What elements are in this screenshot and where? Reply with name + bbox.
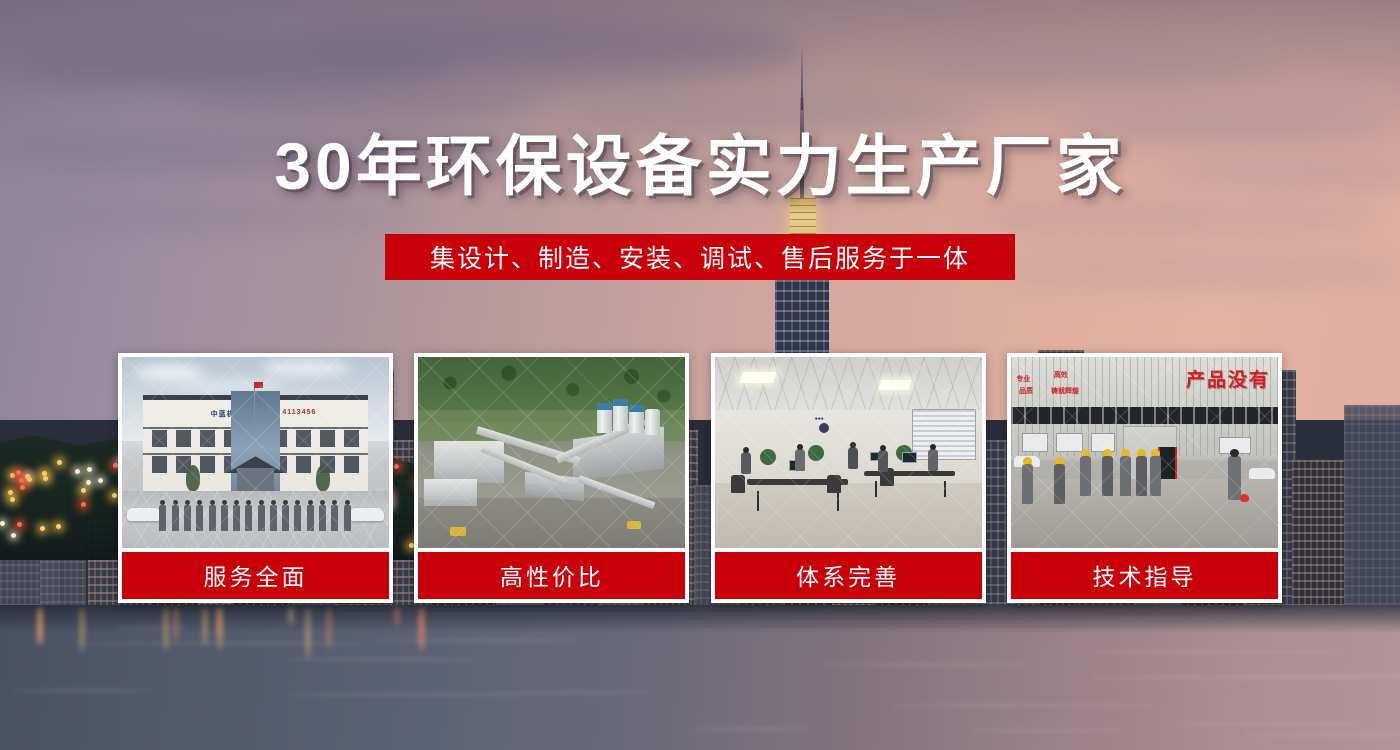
office-interior-photo: ●●● <box>715 357 982 548</box>
office-worker <box>878 450 888 472</box>
office-worker <box>928 449 938 471</box>
feature-card[interactable]: 产品没有 专业 高效 品质 铸就辉煌 <box>1007 353 1282 603</box>
feature-card[interactable]: ●●● <box>711 353 986 603</box>
card-caption: 服务全面 <box>122 552 389 599</box>
flag-pole <box>254 382 255 424</box>
street-light <box>42 471 47 476</box>
staff-member <box>184 505 191 531</box>
light-reflection <box>327 607 331 649</box>
street-light <box>27 477 32 482</box>
light-reflection <box>395 607 399 626</box>
flag <box>254 382 263 388</box>
cloud <box>300 18 800 78</box>
river-water <box>0 605 1400 750</box>
silo <box>645 409 660 435</box>
window-blinds <box>912 409 976 461</box>
parked-car <box>127 508 161 521</box>
feature-card[interactable]: 高性价比 <box>414 353 689 603</box>
street-light <box>16 470 21 475</box>
street-light <box>57 460 62 465</box>
factory-worker <box>1120 456 1131 496</box>
card-photo: 产品没有 专业 高效 品质 铸就辉煌 <box>1011 357 1278 548</box>
plant-aerial-photo <box>418 357 685 548</box>
light-reflection <box>203 607 207 645</box>
street-light <box>0 521 5 526</box>
water-ripple <box>114 626 189 629</box>
photo-cloud <box>175 380 285 392</box>
water-ripple <box>1083 650 1342 653</box>
desk-leg <box>875 481 877 497</box>
factory-worker <box>1150 456 1161 496</box>
desk <box>864 471 955 476</box>
photo-cloud <box>261 361 351 375</box>
street-light <box>8 490 13 495</box>
office-floor <box>715 483 982 548</box>
potted-plant <box>760 449 776 465</box>
potted-plant <box>808 445 824 461</box>
office-worker <box>741 452 751 474</box>
staff-member <box>344 505 351 531</box>
card-caption: 体系完善 <box>715 552 982 599</box>
card-photo: ●●● <box>715 357 982 548</box>
factory-slogan: 高效 <box>1054 370 1068 380</box>
light-reflection <box>217 607 221 639</box>
water-ripple <box>968 729 1128 732</box>
desk-leg <box>757 491 759 511</box>
silo-cap <box>629 405 644 412</box>
subtitle-bar: 集设计、制造、安装、调试、售后服务于一体 <box>385 234 1015 280</box>
street-light <box>56 524 61 529</box>
water-ripple <box>1087 676 1367 679</box>
chair <box>731 475 745 493</box>
factory-slogan: 专业 <box>1016 374 1030 384</box>
card-photo: 中蓝机械 4113456 <box>122 357 389 548</box>
ceiling-light <box>879 380 912 390</box>
ceiling <box>715 357 982 414</box>
card-caption: 高性价比 <box>418 552 685 599</box>
factory-sign-text: 产品没有 <box>1186 365 1270 392</box>
silo-cap <box>613 399 628 406</box>
factory-worker <box>1102 456 1113 496</box>
desk-leg <box>944 481 946 497</box>
street-light <box>75 469 80 474</box>
cloud <box>180 78 540 118</box>
promo-banner: 30年环保设备实力生产厂家 集设计、制造、安装、调试、售后服务于一体 <box>0 0 1400 750</box>
factory-worker <box>1054 464 1065 504</box>
water-ripple <box>1169 722 1364 725</box>
staff-member <box>270 505 277 531</box>
factory-worker <box>1136 456 1147 496</box>
red-helmet <box>1240 494 1249 502</box>
parked-car <box>1249 468 1275 479</box>
light-reflection <box>80 607 84 652</box>
street-light <box>11 533 16 538</box>
water-ripple <box>283 658 482 661</box>
factory-worker <box>1080 456 1091 496</box>
cloud <box>900 40 1280 84</box>
office-worker <box>795 449 805 471</box>
water-ripple <box>690 727 815 730</box>
card-photo <box>418 357 685 548</box>
water-ripple <box>820 663 1033 666</box>
feature-card-row: 中蓝机械 4113456 服务全面 <box>118 353 1282 603</box>
staff-member <box>159 505 166 531</box>
staff-member <box>209 505 216 531</box>
staff-member <box>233 505 240 531</box>
plant-building <box>434 441 503 483</box>
ceiling-light <box>740 372 777 383</box>
street-light <box>112 493 117 498</box>
staff-member <box>331 505 338 531</box>
street-light <box>81 488 86 493</box>
water-ripple <box>373 639 581 642</box>
street-light <box>20 485 25 490</box>
factory-exterior-photo: 产品没有 专业 高效 品质 铸就辉煌 <box>1011 357 1278 548</box>
feature-card[interactable]: 中蓝机械 4113456 服务全面 <box>118 353 393 603</box>
supervisor <box>1228 456 1241 500</box>
staff-member <box>196 505 203 531</box>
staff-member <box>258 505 265 531</box>
street-light <box>43 476 48 481</box>
building-phone-text: 4113456 <box>282 409 316 416</box>
street-light <box>17 522 22 527</box>
silo-cap <box>597 403 612 410</box>
excavator <box>450 527 466 536</box>
card-caption: 技术指导 <box>1011 552 1278 599</box>
street-light <box>87 467 92 472</box>
factory-window <box>1091 433 1115 452</box>
subtitle-text: 集设计、制造、安装、调试、售后服务于一体 <box>430 239 970 275</box>
light-reflection <box>306 607 310 659</box>
light-reflection <box>174 607 178 642</box>
office-worker <box>848 447 858 469</box>
light-reflection <box>38 607 42 646</box>
wall-decal: ●●● <box>811 416 837 436</box>
chair <box>827 475 841 493</box>
water-ripple <box>280 693 537 696</box>
staff-member <box>282 505 289 531</box>
factory-slogan: 铸就辉煌 <box>1051 386 1079 396</box>
factory-slogan: 品质 <box>1019 386 1033 396</box>
street-light <box>98 478 103 483</box>
street-light <box>10 473 15 478</box>
plant-building <box>424 479 477 506</box>
staff-member <box>245 505 252 531</box>
street-light <box>10 497 15 502</box>
water-ripple <box>889 704 1162 707</box>
water-ripple <box>1239 733 1400 736</box>
parked-car <box>350 508 384 521</box>
office-building-photo: 中蓝机械 4113456 <box>122 357 389 548</box>
factory-worker <box>1022 464 1033 504</box>
photo-cloud <box>135 365 205 381</box>
desk-leg <box>837 491 839 511</box>
staff-member <box>221 505 228 531</box>
staff-member <box>307 505 314 531</box>
street-light <box>19 478 24 483</box>
factory-window-band <box>1011 407 1278 424</box>
staff-member <box>172 505 179 531</box>
factory-window <box>1056 433 1083 452</box>
street-light <box>86 480 91 485</box>
water-ripple <box>10 689 155 692</box>
light-reflection <box>164 607 168 651</box>
tree <box>186 465 200 491</box>
light-reflection <box>289 607 293 625</box>
page-title: 30年环保设备实力生产厂家 <box>0 128 1400 206</box>
street-light <box>40 526 45 531</box>
street-light <box>81 502 86 507</box>
monitor <box>902 452 917 463</box>
staff-member <box>294 505 301 531</box>
factory-window <box>1022 433 1049 452</box>
tree <box>316 465 330 491</box>
excavator <box>627 521 641 529</box>
staff-member <box>319 505 326 531</box>
